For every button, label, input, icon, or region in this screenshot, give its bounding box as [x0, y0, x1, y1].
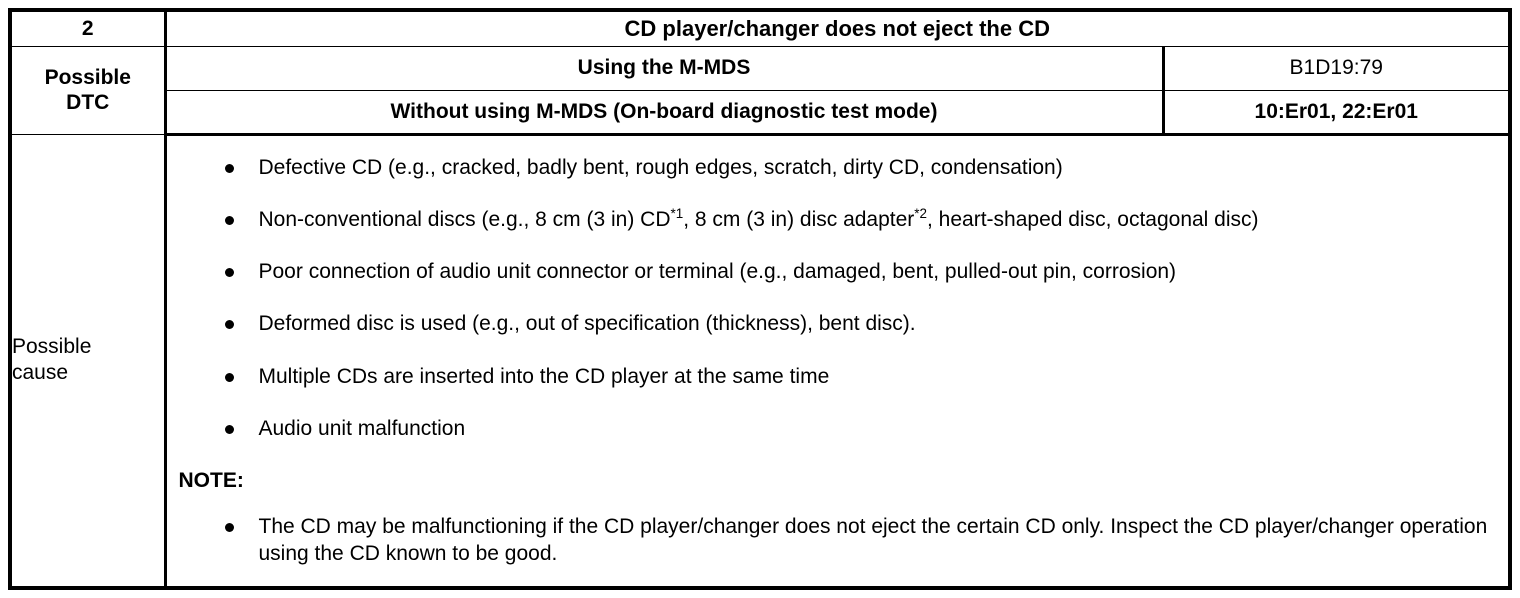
list-item: Deformed disc is used (e.g., out of spec… [177, 311, 1499, 337]
list-item: Non-conventional discs (e.g., 8 cm (3 in… [177, 207, 1499, 233]
table-row-dtc-mmds: Possible DTC Using the M-MDS B1D19:79 [10, 46, 1510, 90]
list-item: Multiple CDs are inserted into the CD pl… [177, 364, 1499, 390]
note-bullet-list: The CD may be malfunctioning if the CD p… [177, 514, 1499, 567]
table-row-possible-cause: Possible cause Defective CD (e.g., crack… [10, 134, 1510, 588]
cause-text-mid: , 8 cm (3 in) disc adapter [683, 208, 914, 231]
table-row-dtc-onboard: Without using M-MDS (On-board diagnostic… [10, 90, 1510, 134]
cause-text-post: , heart-shaped disc, octagonal disc) [927, 208, 1259, 231]
dtc-method-cell-mmds: Using the M-MDS [165, 46, 1163, 90]
list-item: Defective CD (e.g., cracked, badly bent,… [177, 155, 1499, 181]
symptom-diagnostic-table: 2 CD player/changer does not eject the C… [8, 8, 1512, 590]
cause-text: Poor connection of audio unit connector … [259, 260, 1177, 283]
possible-cause-label-line1: Possible [12, 335, 91, 358]
cause-text: Multiple CDs are inserted into the CD pl… [259, 365, 830, 388]
list-item: Poor connection of audio unit connector … [177, 259, 1499, 285]
possible-cause-label-line2: cause [12, 361, 68, 384]
cause-text: Audio unit malfunction [259, 417, 466, 440]
possible-dtc-label-line2: DTC [66, 91, 109, 114]
list-item: The CD may be malfunctioning if the CD p… [177, 514, 1499, 567]
dtc-method-cell-onboard: Without using M-MDS (On-board diagnostic… [165, 90, 1163, 134]
cause-content: Defective CD (e.g., cracked, badly bent,… [167, 145, 1509, 577]
cause-text: Non-conventional discs (e.g., 8 cm (3 in… [259, 208, 671, 231]
footnote-marker-2: *2 [914, 206, 927, 221]
symptom-title-cell: CD player/changer does not eject the CD [165, 10, 1510, 46]
cause-bullet-list: Defective CD (e.g., cracked, badly bent,… [177, 155, 1499, 443]
cause-text: Defective CD (e.g., cracked, badly bent,… [259, 156, 1063, 179]
possible-dtc-label-line1: Possible [45, 66, 131, 89]
diagnostic-table-page: 2 CD player/changer does not eject the C… [0, 0, 1520, 598]
cause-text: Deformed disc is used (e.g., out of spec… [259, 312, 916, 335]
item-number-cell: 2 [10, 10, 165, 46]
table-row-symptom-header: 2 CD player/changer does not eject the C… [10, 10, 1510, 46]
possible-cause-label-cell: Possible cause [10, 134, 165, 588]
possible-dtc-label-cell: Possible DTC [10, 46, 165, 134]
dtc-code-cell-mmds: B1D19:79 [1163, 46, 1510, 90]
note-heading: NOTE: [177, 468, 1499, 494]
footnote-marker: *1 [671, 206, 684, 221]
dtc-code-cell-onboard: 10:Er01, 22:Er01 [1163, 90, 1510, 134]
list-item: Audio unit malfunction [177, 416, 1499, 442]
possible-cause-body-cell: Defective CD (e.g., cracked, badly bent,… [165, 134, 1510, 588]
